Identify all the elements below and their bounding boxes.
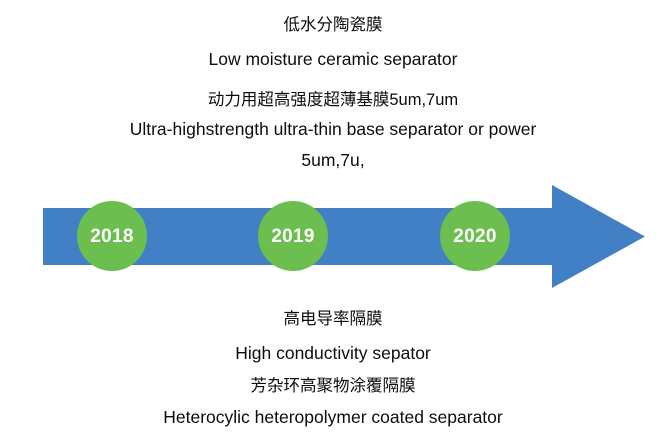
milestone-label-2018: 2018 — [90, 227, 133, 246]
milestone-2020[interactable]: 2020 — [440, 201, 510, 271]
milestone-label-2019: 2019 — [271, 227, 314, 246]
bottom-annotation-text: 高电导率隔膜 High conductivity sepator 芳杂环高聚物涂… — [0, 303, 666, 431]
timeline-diagram: 低水分陶瓷膜 Low moisture ceramic separator 动力… — [0, 0, 666, 439]
milestone-2019[interactable]: 2019 — [258, 201, 328, 271]
bottom-text-line-2: High conductivity sepator — [0, 336, 666, 370]
top-text-line-2: Low moisture ceramic separator — [0, 42, 666, 77]
top-text-line-1: 低水分陶瓷膜 — [0, 8, 666, 42]
bottom-text-line-4: Heterocylic heteropolymer coated separat… — [0, 403, 666, 431]
top-text-line-5: 5um,7u, — [0, 143, 666, 177]
bottom-text-line-1: 高电导率隔膜 — [0, 303, 666, 336]
top-annotation-text: 低水分陶瓷膜 Low moisture ceramic separator 动力… — [0, 8, 666, 177]
top-text-spacer — [0, 77, 666, 86]
milestone-label-2020: 2020 — [453, 227, 496, 246]
milestone-2018[interactable]: 2018 — [77, 201, 147, 271]
top-text-line-3: 动力用超高强度超薄基膜5um,7um — [0, 86, 666, 115]
bottom-text-line-3: 芳杂环高聚物涂覆隔膜 — [0, 370, 666, 403]
top-text-line-4: Ultra-highstrength ultra-thin base separ… — [0, 115, 666, 143]
